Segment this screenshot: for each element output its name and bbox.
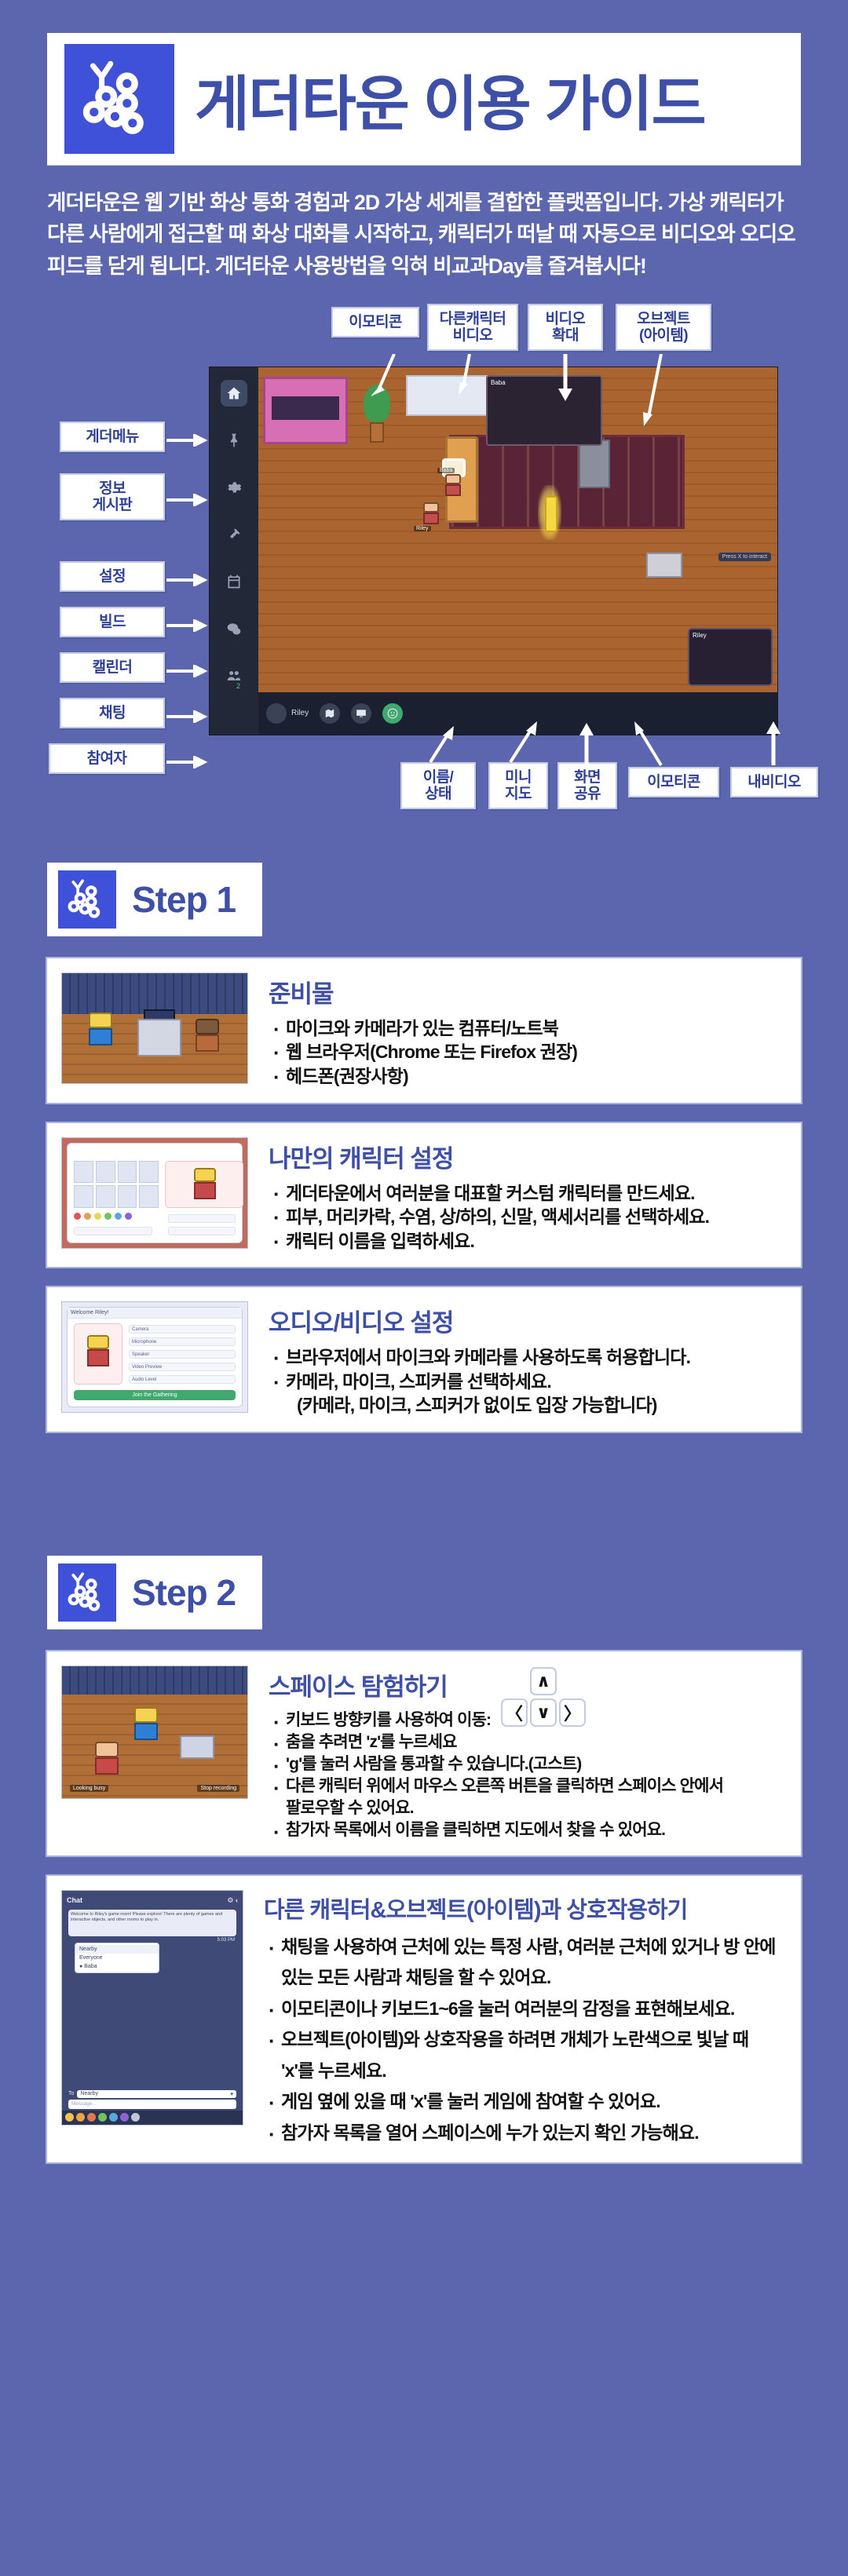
screenshare-icon[interactable]: [351, 703, 371, 724]
thumb-hint: Stop recording: [197, 1785, 239, 1792]
callout-name-status: 이름/ 상태: [400, 762, 476, 810]
emoji-icon[interactable]: [382, 703, 403, 724]
chat-to-value: Nearby: [80, 2091, 98, 2097]
step-2-banner: Step 2: [47, 1556, 262, 1629]
annotated-screenshot: Baba Riley Baba Press X to interact Rile…: [35, 302, 813, 812]
bullet-list: 채팅을 사용하여 근처에 있는 특정 사람, 여러분 근처에 있거나 방 안에 …: [264, 1932, 787, 2149]
arrow-right-icon: [166, 434, 210, 447]
callout-self-video: 내비디오: [730, 767, 818, 797]
emoji-6-icon[interactable]: [120, 2113, 129, 2122]
arrow-right-icon: [166, 574, 210, 586]
close-icon[interactable]: [131, 2113, 140, 2122]
callout-chat: 채팅: [60, 698, 165, 728]
calendar-icon[interactable]: [221, 568, 247, 595]
people-icon[interactable]: 2: [221, 662, 247, 689]
name-status-chip[interactable]: Riley: [266, 703, 309, 724]
interaction-hint: Press X to interact: [718, 553, 771, 561]
step-1-label: Step 1: [132, 878, 236, 921]
arrow-up-icon: [630, 721, 666, 767]
emoji-3-icon[interactable]: [87, 2113, 96, 2122]
dropdown-option[interactable]: ● Baba: [75, 1962, 159, 1971]
gather-grapes-logo-icon: [58, 870, 116, 929]
chat-panel-header: Chat ⚙ ‹: [67, 1895, 238, 1906]
gather-grapes-logo-icon: [58, 1563, 116, 1622]
list-item: 브라우저에서 마이크와 카메라를 사용하도록 허용합니다.: [269, 1345, 787, 1370]
list-item: 참가자 목록에서 이름을 클릭하면 지도에서 찾을 수 있어요.: [269, 1819, 787, 1841]
chat-icon[interactable]: [221, 615, 247, 642]
emoji-1-icon[interactable]: [65, 2113, 74, 2122]
list-item: (카메라, 마이크, 스피커가 없이도 입장 가능합니다): [269, 1393, 787, 1418]
list-item: 'g'를 눌러 사람을 통과할 수 있습니다.(고스트): [269, 1753, 787, 1775]
office-room-thumb: [61, 972, 248, 1084]
chat-to-label: To: [68, 2091, 74, 2096]
chat-to-select[interactable]: Nearby ▾: [77, 2090, 236, 2098]
chat-timestamp: 5:03 PM: [217, 1938, 235, 1943]
home-icon[interactable]: [221, 380, 247, 407]
fridge-object: [579, 440, 610, 488]
list-item: 게임 옆에 있을 때 'x'를 눌러 게임에 참여할 수 있어요.: [264, 2086, 787, 2118]
callout-video-zoom: 비디오 확대: [528, 304, 603, 352]
bullet-list: 게더타운에서 여러분을 대표할 커스텀 캐릭터를 만드세요. 피부, 머리카락,…: [269, 1181, 787, 1253]
kiosk-object: [263, 377, 348, 444]
gear-icon[interactable]: [221, 474, 247, 501]
callout-minimap: 미니 지도: [488, 762, 548, 810]
list-item: 춤을 추려면 'z'를 누르세요: [269, 1731, 787, 1753]
step-2-label: Step 2: [132, 1571, 236, 1614]
list-item: 마이크와 카메라가 있는 컴퓨터/노트북: [269, 1016, 787, 1041]
list-item: 카메라, 마이크, 스피커를 선택하세요.: [269, 1370, 787, 1394]
card-preparation: 준비물 마이크와 카메라가 있는 컴퓨터/노트북 웹 브라우저(Chrome 또…: [46, 957, 802, 1104]
list-item: 웹 브라우저(Chrome 또는 Firefox 권장): [269, 1040, 787, 1064]
arrow-down-icon: [636, 354, 672, 429]
chat-input[interactable]: Message...: [68, 2100, 236, 2109]
arrow-up-icon: [426, 726, 457, 764]
character-editor-thumb: [61, 1137, 248, 1249]
callout-participants: 참여자: [49, 743, 165, 774]
arrow-right-icon: [166, 619, 210, 632]
arrow-down-icon: [367, 354, 399, 400]
pin-icon[interactable]: [221, 427, 247, 454]
arrow-up-icon: [765, 721, 784, 765]
card-title: 오디오/비디오 설정: [269, 1303, 787, 1338]
bullet-list: 마이크와 카메라가 있는 컴퓨터/노트북 웹 브라우저(Chrome 또는 Fi…: [269, 1016, 787, 1089]
dropdown-option[interactable]: Everyone: [75, 1954, 159, 1962]
gear-icon[interactable]: ⚙ ‹: [227, 1896, 238, 1905]
list-item: 키보드 방향키를 사용하여 이동:: [269, 1709, 787, 1731]
dropdown-option[interactable]: Nearby: [75, 1945, 159, 1954]
arrow-right-icon: [166, 665, 210, 677]
callout-other-character-video: 다른캐릭터 비디오: [427, 304, 518, 352]
avatar: [266, 703, 287, 724]
avatar-name-tag: Riley: [414, 526, 431, 531]
emoji-bar: [62, 2111, 243, 2125]
self-video-tile[interactable]: Riley: [688, 628, 773, 686]
card-character-setup: 나만의 캐릭터 설정 게더타운에서 여러분을 대표할 커스텀 캐릭터를 만드세요…: [46, 1122, 802, 1269]
self-video-name: Riley: [693, 632, 707, 639]
chat-message-text: Welcome to Riley's game room! Please exp…: [71, 1912, 222, 1922]
card-title: 나만의 캐릭터 설정: [269, 1139, 787, 1174]
arrow-down-icon: [451, 354, 479, 396]
join-gathering-button[interactable]: Join the Gathering: [74, 1390, 236, 1400]
gather-grapes-logo-icon: [64, 44, 174, 154]
step-1-banner: Step 1: [47, 863, 262, 936]
arrow-right-icon: [166, 710, 210, 723]
callout-calendar: 캘린더: [60, 652, 165, 683]
chat-to-row: To Nearby ▾: [68, 2090, 236, 2098]
card-av-setup: Welcome Riley! Camera Microphone Speaker…: [46, 1286, 802, 1433]
arrow-up-icon: [578, 723, 597, 764]
chat-recipient-dropdown[interactable]: Nearby Everyone ● Baba: [75, 1943, 159, 1973]
card-explore-space: Looking busy Stop recording 스페이스 탐험하기 ∧ …: [46, 1650, 802, 1857]
avatar-name-tag: Baba: [437, 468, 455, 473]
emoji-2-icon[interactable]: [76, 2113, 85, 2122]
arrow-up-key[interactable]: ∧: [530, 1667, 557, 1695]
callout-info-board: 정보 게시판: [60, 473, 165, 521]
arrow-down-icon: [554, 354, 578, 403]
list-item: 피부, 머리카락, 수염, 상/하의, 신말, 액세서리를 선택하세요.: [269, 1205, 787, 1229]
list-item: 참가자 목록을 열어 스페이스에 누가 있는지 확인 가능해요.: [264, 2118, 787, 2149]
participant-count: 2: [236, 682, 240, 690]
name-status-label: Riley: [291, 709, 309, 717]
other-avatar[interactable]: [445, 474, 461, 496]
bullet-list: 브라우저에서 마이크와 카메라를 사용하도록 허용합니다. 카메라, 마이크, …: [269, 1345, 787, 1418]
callout-settings: 설정: [60, 561, 165, 592]
thumb-hint: Looking busy: [70, 1785, 108, 1792]
gather-app-screenshot: Baba Riley Baba Press X to interact Rile…: [209, 367, 778, 735]
emoji-5-icon[interactable]: [109, 2113, 118, 2122]
arrow-right-icon: [166, 756, 210, 768]
other-video-name: Baba: [491, 379, 506, 386]
bullet-list: 키보드 방향키를 사용하여 이동: 춤을 추려면 'z'를 누르세요 'g'를 …: [269, 1709, 787, 1841]
page-header: 게더타운 이용 가이드: [47, 33, 801, 165]
chat-message: Welcome to Riley's game room! Please exp…: [68, 1910, 236, 1936]
arrow-right-icon: [166, 494, 210, 506]
av-modal-title: Welcome Riley!: [68, 1308, 242, 1319]
list-item: 이모티콘이나 키보드1~6을 눌러 여러분의 감정을 표현해보세요.: [264, 1994, 787, 2025]
hammer-icon[interactable]: [221, 521, 247, 548]
arrow-up-icon: [506, 721, 540, 764]
callout-object-item: 오브젝트 (아이템): [616, 304, 711, 352]
list-item: 헤드폰(권장사항): [269, 1064, 787, 1089]
page-title: 게더타운 이용 가이드: [195, 56, 705, 142]
app-left-sidebar: 2: [210, 367, 258, 735]
callout-screenshare: 화면 공유: [557, 762, 617, 810]
rug-object: [449, 435, 685, 529]
card-interaction: Chat ⚙ ‹ Welcome to Riley's game room! P…: [46, 1874, 802, 2165]
chat-panel-thumb: Chat ⚙ ‹ Welcome to Riley's game room! P…: [61, 1890, 243, 2125]
callout-emoji-top: 이모티콘: [331, 307, 419, 338]
own-avatar[interactable]: [423, 502, 439, 524]
list-item: 오브젝트(아이템)와 상호작용을 하려면 개체가 노란색으로 빛날 때 'x'를…: [264, 2024, 787, 2086]
chat-panel-title: Chat: [67, 1896, 82, 1904]
list-item: 게더타운에서 여러분을 대표할 커스텀 캐릭터를 만드세요.: [269, 1181, 787, 1206]
table-object: [646, 553, 682, 578]
card-title: 다른 캐릭터&오브젝트(아이템)과 상호작용하기: [264, 1892, 787, 1925]
callout-build: 빌드: [60, 607, 165, 637]
other-character-video-tile[interactable]: Baba: [486, 375, 602, 446]
list-item: 캐릭터 이름을 입력하세요.: [269, 1229, 787, 1253]
av-setup-thumb: Welcome Riley! Camera Microphone Speaker…: [61, 1301, 248, 1413]
minimap-icon[interactable]: [320, 703, 340, 724]
space-explore-thumb: Looking busy Stop recording: [61, 1666, 248, 1799]
chevron-down-icon: ▾: [230, 2091, 233, 2097]
list-item: 다른 캐릭터 위에서 마우스 오른쪽 버튼을 클릭하면 스페이스 안에서 팔로우…: [269, 1775, 787, 1819]
card-title: 준비물: [269, 974, 787, 1009]
callout-gather-menu: 게더메뉴: [60, 421, 165, 452]
callout-emoji-bottom: 이모티콘: [628, 767, 719, 797]
emoji-4-icon[interactable]: [98, 2113, 107, 2122]
interactive-object-glow[interactable]: [538, 485, 561, 540]
intro-paragraph: 게더타운은 웹 기반 화상 통화 경험과 2D 가상 세계를 결합한 플랫폼입니…: [47, 187, 801, 282]
list-item: 채팅을 사용하여 근처에 있는 특정 사람, 여러분 근처에 있거나 방 안에 …: [264, 1932, 787, 1994]
